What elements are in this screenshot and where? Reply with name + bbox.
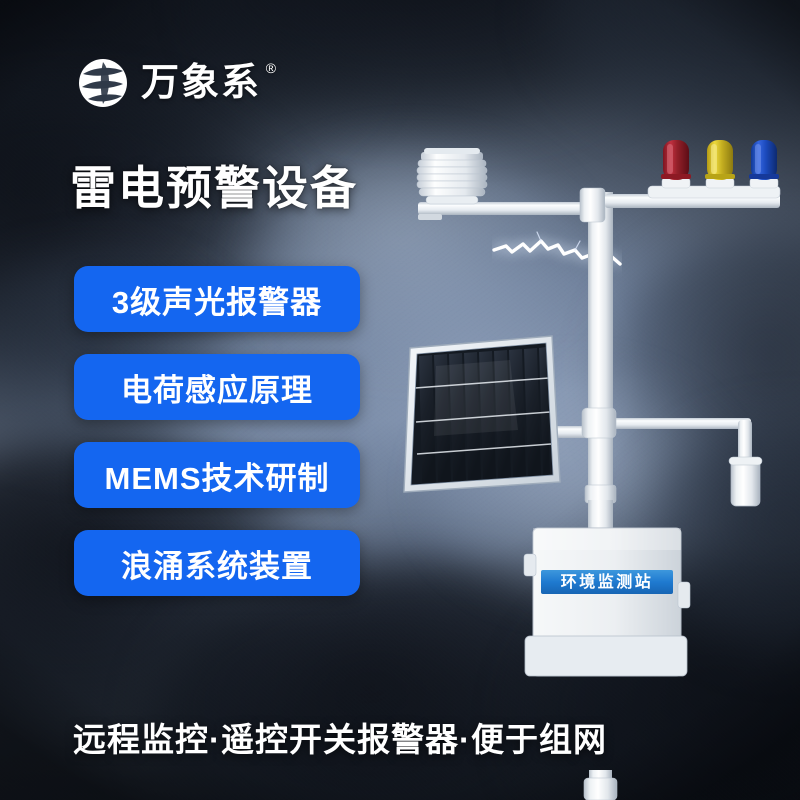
feature-pill-alarm-levels[interactable]: 3级声光报警器	[74, 266, 360, 332]
brand-name: 万象系	[141, 62, 261, 104]
beacon-red	[661, 140, 691, 188]
radiation-shield-sensor	[417, 148, 487, 204]
feature-list: 3级声光报警器 电荷感应原理 MEMS技术研制 浪涌系统装置	[74, 266, 360, 596]
rain-gauge-sensor	[729, 457, 762, 506]
swirl-mark-icon	[78, 58, 128, 108]
beacon-mount	[605, 186, 780, 208]
beacon-yellow	[705, 140, 735, 188]
feature-pill-mems-tech[interactable]: MEMS技术研制	[74, 442, 360, 508]
beacon-blue	[749, 140, 779, 188]
registered-mark: ®	[266, 61, 278, 75]
poster-canvas: 环境监测站 万象系 ® 雷电预警设备 3级声光报警器 电荷感应原理 MEMS技术…	[0, 0, 800, 800]
cabinet-label: 环境监测站	[561, 572, 654, 591]
solar-panel	[404, 336, 560, 492]
weather-station-product: 环境监测站	[390, 130, 800, 800]
brand-logo: 万象系 ®	[78, 58, 261, 108]
mast-pole	[584, 192, 617, 800]
feature-pill-surge-system[interactable]: 浪涌系统装置	[74, 530, 360, 596]
page-title: 雷电预警设备	[70, 164, 358, 214]
control-cabinet: 环境监测站	[524, 528, 690, 676]
feature-pill-charge-sensing[interactable]: 电荷感应原理	[74, 354, 360, 420]
bottom-tagline: 远程监控·遥控开关报警器·便于组网	[73, 713, 607, 761]
brand-name-wrap: 万象系 ®	[141, 64, 261, 102]
